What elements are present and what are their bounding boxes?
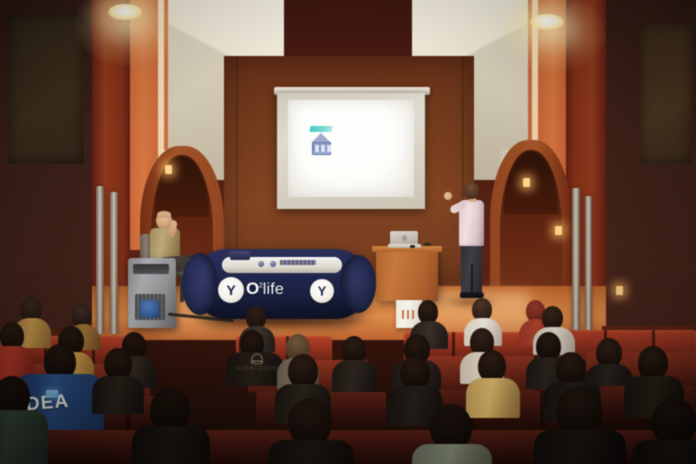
shoulders [466,378,520,418]
jacket-logo-dome-icon [250,352,264,364]
laptop-base [388,244,421,248]
shoulders [132,426,210,464]
clipart-window-2 [321,145,325,152]
head [288,398,332,446]
mini-wall-lamp-right-lower [555,226,562,235]
head [288,354,318,388]
dome-icon-svg [250,353,264,365]
head [556,352,586,386]
presenter-head [464,182,479,199]
chamber-brand-life: life [263,281,284,298]
carton-printed-label [402,310,417,319]
shoulders [0,410,48,464]
chamber-logo-left: Y [218,277,244,303]
oxygen-concentrator-control-panel [133,264,169,274]
podium-small-object-1 [424,243,431,246]
presenter-pointing-at-screen [448,178,494,306]
right-wall-panel [640,24,692,164]
head [638,346,668,380]
hyperbaric-chamber: Y Y O2life [182,249,378,321]
silver-laptop [390,231,420,248]
oxygen-concentrator-blue-part [140,300,159,318]
podium-small-object-2 [410,245,415,248]
presenter-hand [444,192,452,200]
chamber-label-strip [280,260,316,265]
auditorium-presentation-photo: Y Y O2life [0,0,696,464]
vertical-metal-strip-right-1 [572,188,580,338]
projected-slide [288,100,414,197]
chamber-end-cap-left [182,253,218,315]
mini-wall-lamp-far-right [616,286,623,295]
chamber-access-port [230,251,250,260]
vertical-metal-strip-left-2 [110,192,118,334]
head [400,356,430,390]
shoulders [268,440,354,464]
chamber-end-cap-right [340,255,376,313]
left-wall-panel [8,14,84,164]
mini-wall-lamp-left [165,165,172,174]
head [556,386,602,436]
chamber-logo-right: Y [310,279,334,303]
chamber-knob-2 [270,261,276,267]
clipart-teal-band [309,126,332,132]
presenter-leg-separation [471,264,473,294]
phone-screen-glow [46,390,58,398]
chamber-brand-o: O [246,279,259,298]
chamber-knob-1 [258,261,264,267]
wall-sconce-light-right [530,14,564,30]
shoulders [92,376,144,414]
chamber-brand-wordmark: O2life [246,279,312,301]
clipart-body-shape [312,142,331,155]
wall-sconce-light-left [108,4,142,20]
shoulders [412,444,492,464]
chamber-logo-mark-left: Y [226,283,235,297]
clipart-roof-shape [312,133,330,142]
head [652,398,696,446]
clipart-window-1 [315,145,319,152]
seated-man-bald-crown [157,211,171,218]
hyperbaric-chamber-clipart-icon [310,126,334,158]
mini-wall-lamp-right [523,178,530,187]
vertical-metal-strip-right-2 [585,196,592,338]
shoulders [632,440,696,464]
chamber-logo-mark-right: Y [318,285,327,298]
laptop-brand-logo-icon [402,235,407,241]
shoulders [534,430,626,464]
clipart-window-3 [327,145,331,152]
shoulders [332,360,376,392]
wooden-podium [376,249,438,301]
vertical-metal-strip-left-1 [96,186,104,334]
